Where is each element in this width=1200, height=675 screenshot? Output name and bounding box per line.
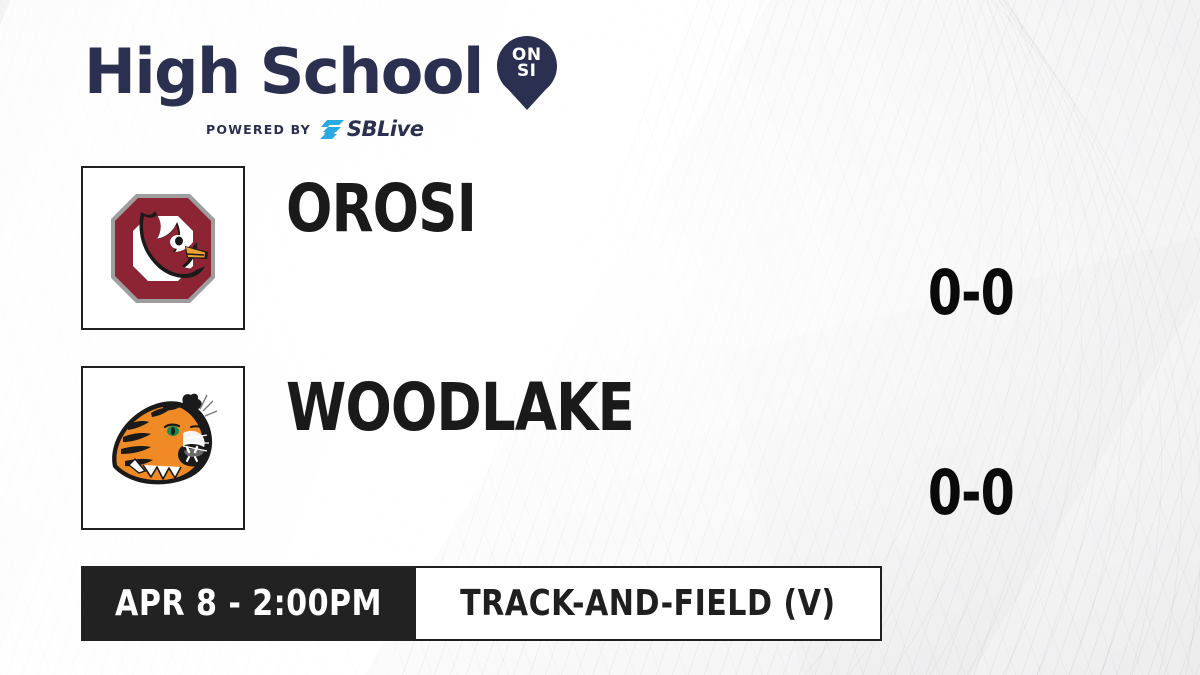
sblive-wordmark: SBLive xyxy=(347,119,424,140)
sblive-bolt-icon xyxy=(320,120,344,140)
tiger-head-logo-icon xyxy=(99,389,227,507)
team-record-orosi: 0-0 xyxy=(928,262,1014,324)
powered-by-row: POWERED BY SBLive xyxy=(206,119,557,140)
team-logo-box-orosi[interactable] xyxy=(81,166,245,330)
team-record-woodlake: 0-0 xyxy=(928,462,1014,524)
cardinal-head-logo-icon xyxy=(103,186,223,311)
brand-logo[interactable]: High School ON SI POWERED BY SBLive xyxy=(84,34,557,140)
team-name-orosi: OROSI xyxy=(286,176,476,242)
game-sport-block: TRACK-AND-FIELD (V) xyxy=(416,566,882,641)
sblive-logo: SBLive xyxy=(320,119,424,140)
game-sport-text: TRACK-AND-FIELD (V) xyxy=(460,586,835,622)
pin-label-si: SI xyxy=(497,63,557,79)
game-info-bar: APR 8 - 2:00PM TRACK-AND-FIELD (V) xyxy=(81,566,882,641)
team-name-woodlake: WOODLAKE xyxy=(286,375,634,441)
matchup-graphic: High School ON SI POWERED BY SBLive xyxy=(0,0,1200,675)
brand-wordmark: High School xyxy=(84,41,483,103)
team-logo-box-woodlake[interactable] xyxy=(81,366,245,530)
game-datetime-block: APR 8 - 2:00PM xyxy=(81,566,416,641)
game-datetime-text: APR 8 - 2:00PM xyxy=(115,586,382,622)
on-si-pin-icon: ON SI xyxy=(497,36,557,110)
powered-by-label: POWERED BY xyxy=(206,122,311,137)
